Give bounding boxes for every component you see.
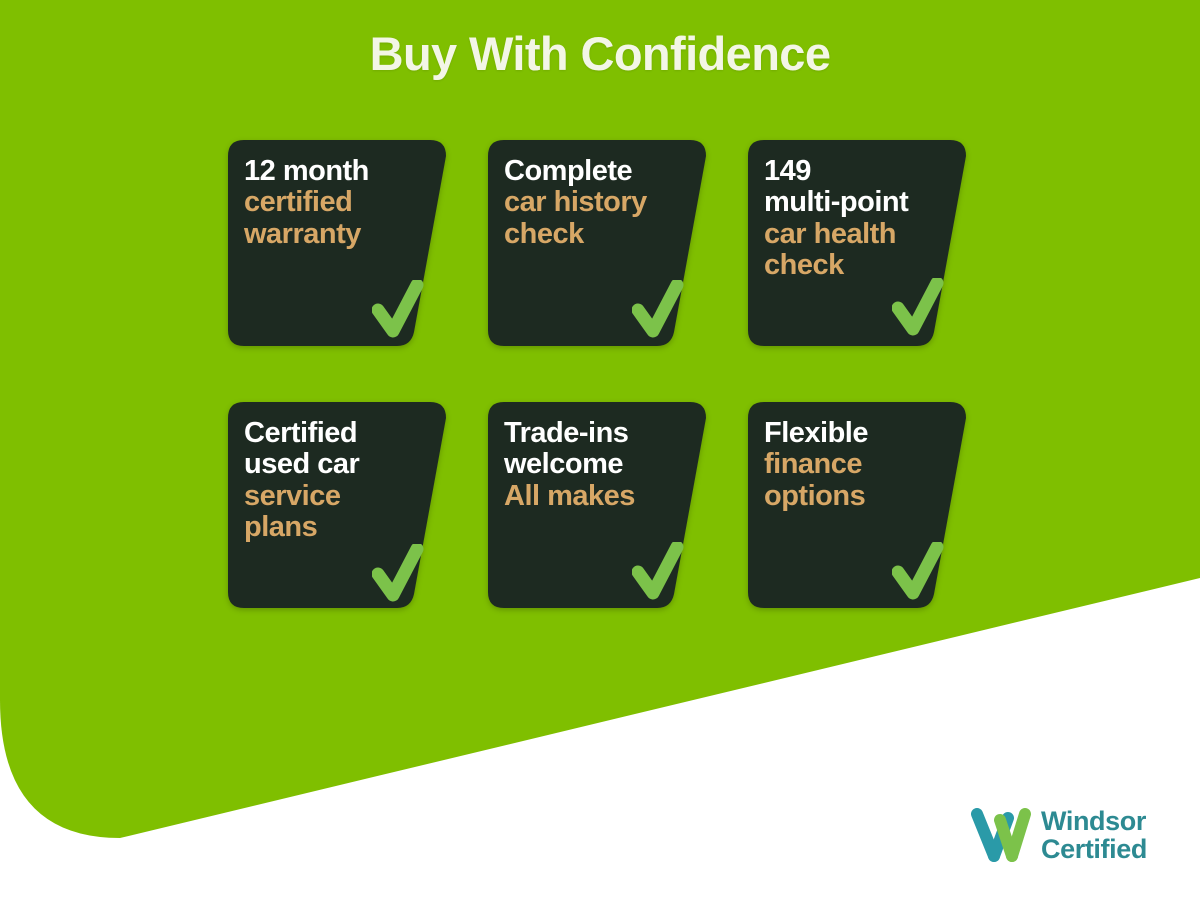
check-mark-icon (372, 280, 426, 342)
benefit-card-trade-ins[interactable]: Trade-ins welcome All makes (488, 402, 706, 608)
card-line-white: 12 month (244, 156, 424, 187)
card-line-gold: options (764, 481, 944, 512)
card-line-white: 149 (764, 156, 944, 187)
card-text: 149 multi-point car health check (764, 156, 944, 281)
card-line-gold: All makes (504, 481, 684, 512)
card-line-gold: warranty (244, 219, 424, 250)
benefit-card-multi-point-health-check[interactable]: 149 multi-point car health check (748, 140, 966, 346)
card-line-gold: car health (764, 219, 944, 250)
card-text: Certified used car service plans (244, 418, 424, 543)
card-line-gold: finance (764, 449, 944, 480)
card-line-gold: car history (504, 187, 684, 218)
card-line-gold: certified (244, 187, 424, 218)
benefit-card-grid: 12 month certified warranty Complete car… (228, 140, 976, 608)
card-line-gold: plans (244, 512, 424, 543)
brand-line-windsor: Windsor (1041, 808, 1147, 836)
card-line-white: Complete (504, 156, 684, 187)
check-mark-icon (632, 280, 686, 342)
brand-logo[interactable]: Windsor Certified (970, 808, 1147, 864)
card-line-white: welcome (504, 449, 684, 480)
benefit-card-service-plans[interactable]: Certified used car service plans (228, 402, 446, 608)
check-mark-icon (632, 542, 686, 604)
page-title: Buy With Confidence (0, 26, 1200, 81)
windsor-w-icon (970, 808, 1032, 864)
check-mark-icon (892, 278, 946, 340)
benefit-card-car-history-check[interactable]: Complete car history check (488, 140, 706, 346)
card-line-white: Trade-ins (504, 418, 684, 449)
card-line-white: multi-point (764, 187, 944, 218)
infographic-canvas: Buy With Confidence 12 month certified w… (0, 0, 1200, 900)
benefit-card-finance-options[interactable]: Flexible finance options (748, 402, 966, 608)
card-text: 12 month certified warranty (244, 156, 424, 250)
card-line-gold: service (244, 481, 424, 512)
card-line-white: Flexible (764, 418, 944, 449)
benefit-card-certified-warranty[interactable]: 12 month certified warranty (228, 140, 446, 346)
card-text: Flexible finance options (764, 418, 944, 512)
check-mark-icon (372, 544, 426, 606)
check-mark-icon (892, 542, 946, 604)
brand-wordmark: Windsor Certified (1041, 808, 1147, 863)
brand-line-certified: Certified (1041, 836, 1147, 864)
card-line-white: Certified (244, 418, 424, 449)
card-text: Trade-ins welcome All makes (504, 418, 684, 512)
card-line-white: used car (244, 449, 424, 480)
card-text: Complete car history check (504, 156, 684, 250)
card-line-gold: check (764, 250, 944, 281)
card-line-gold: check (504, 219, 684, 250)
